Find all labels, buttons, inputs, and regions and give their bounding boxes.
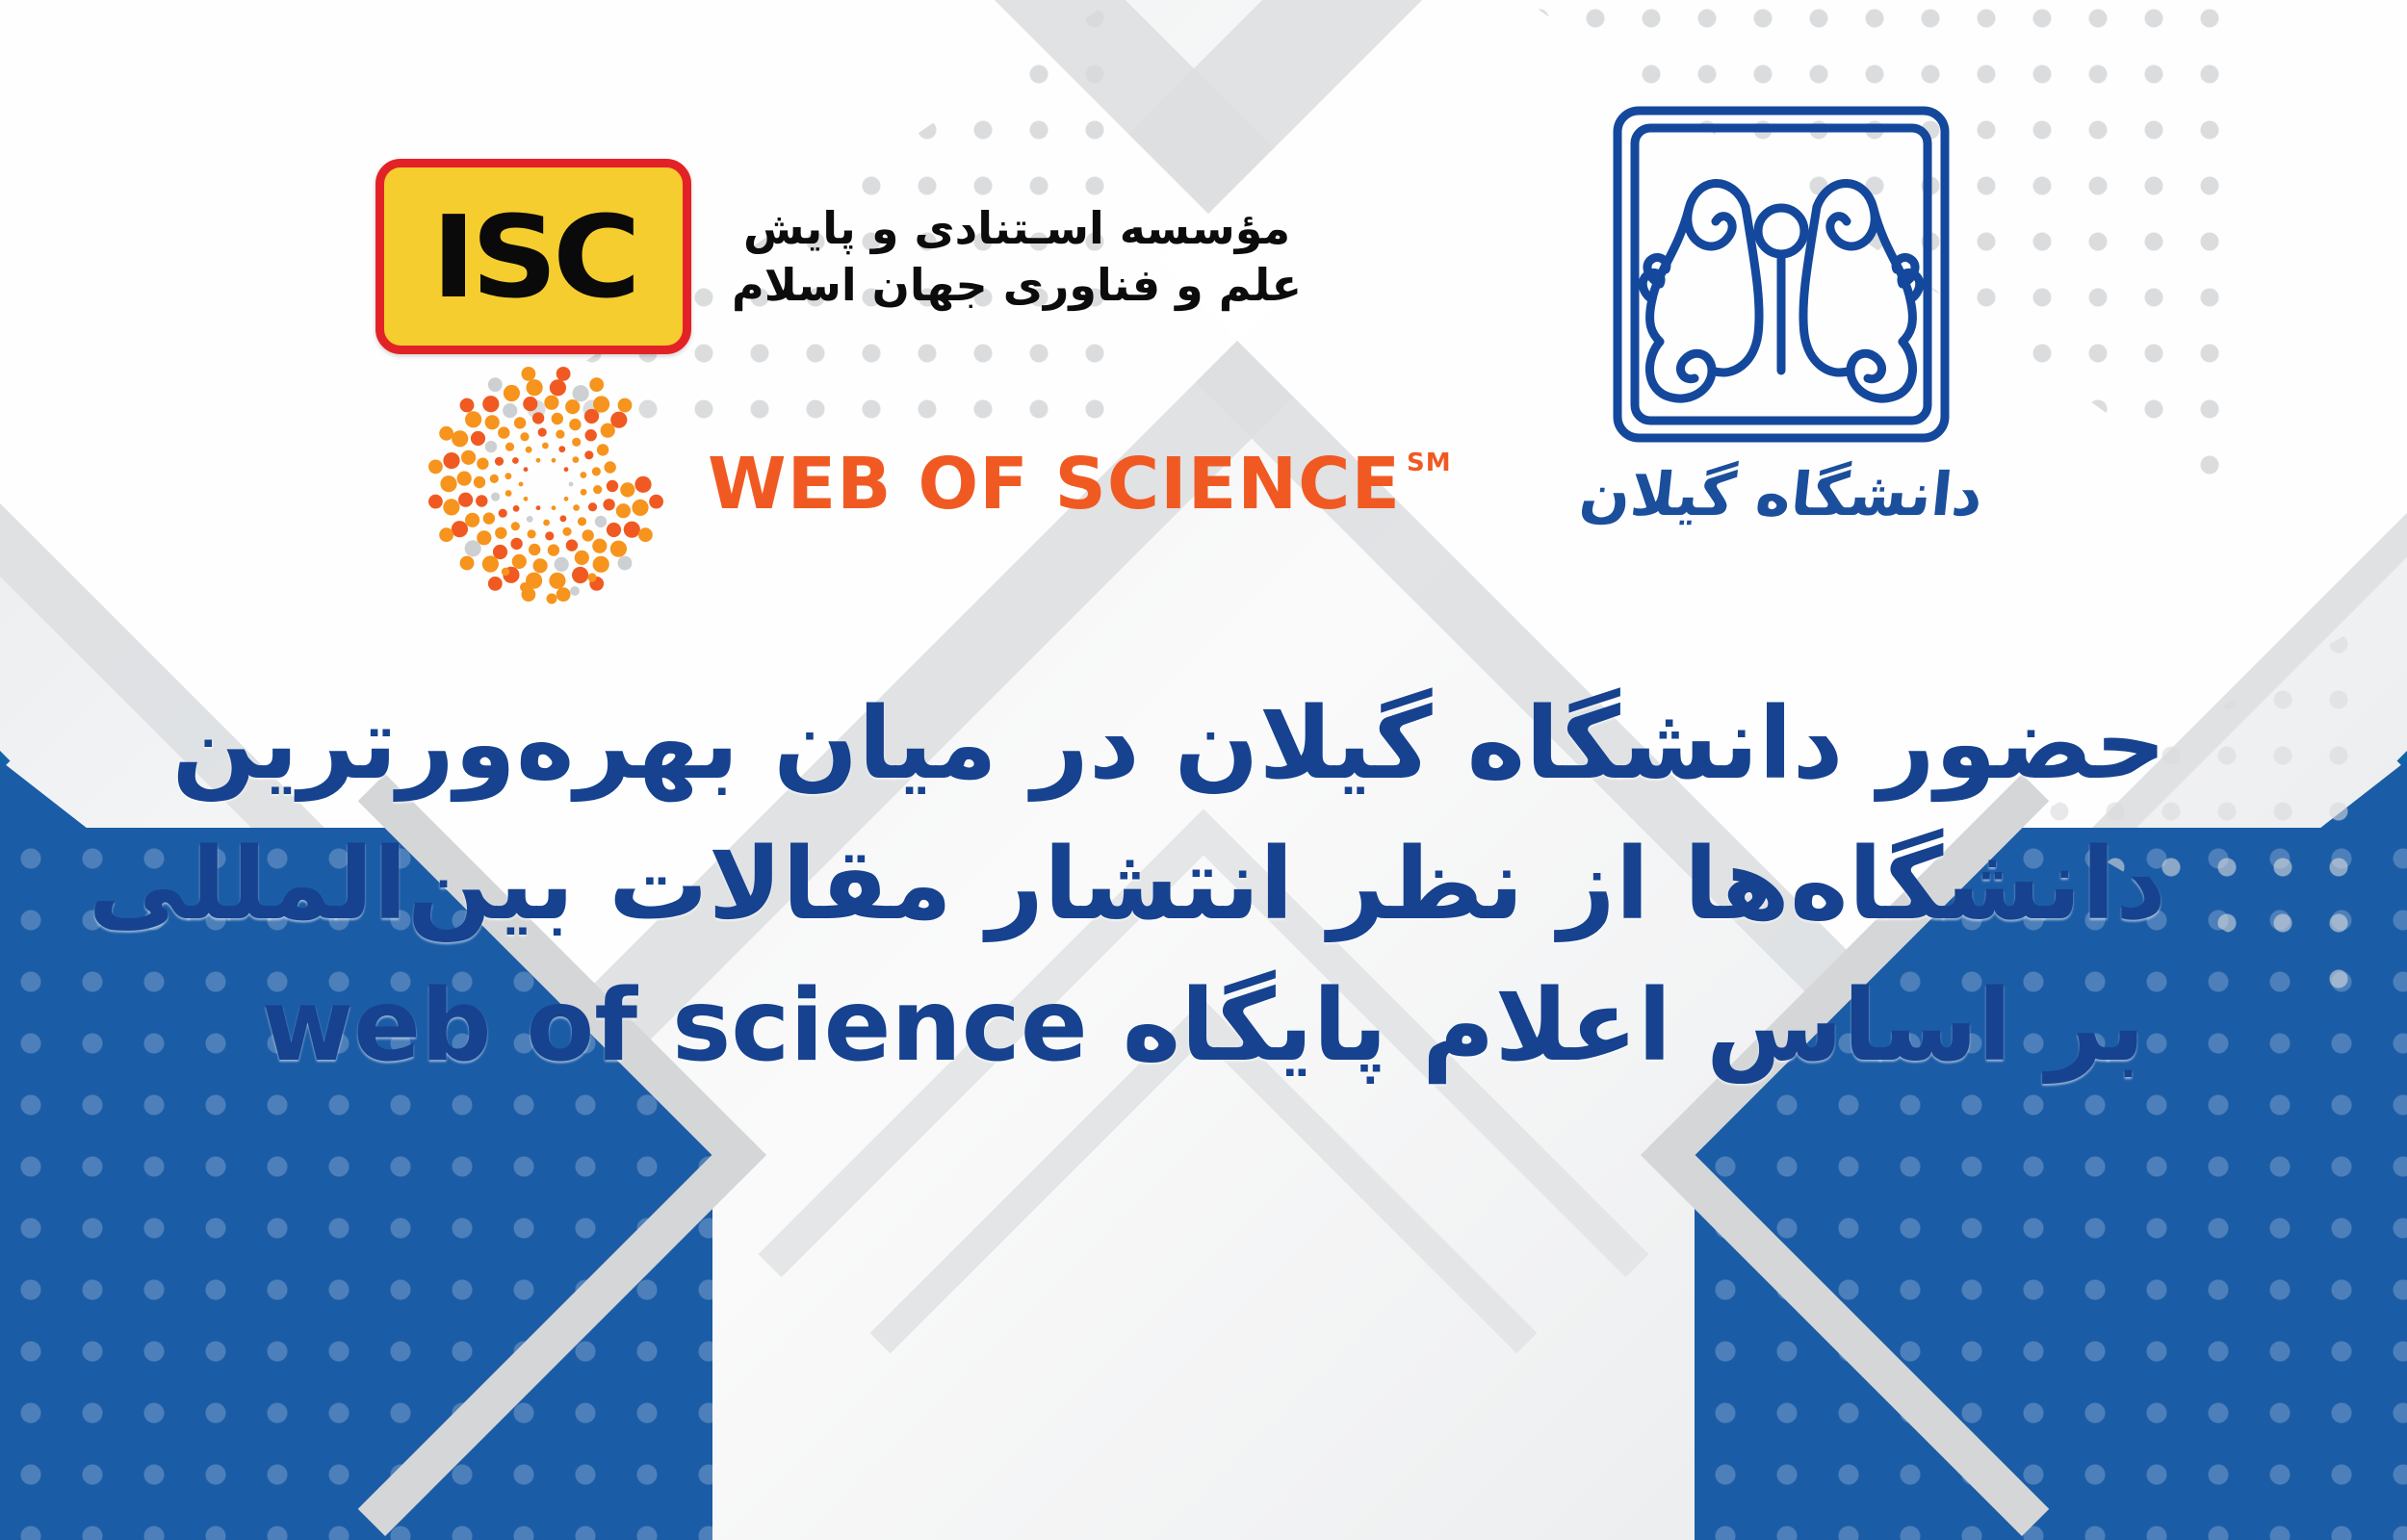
- isc-mark-text: ISC: [431, 200, 636, 314]
- web-of-science-dots-icon: [428, 364, 669, 604]
- web-of-science-trademark: SM: [1407, 449, 1452, 477]
- blue-chevron-mid-left: [0, 674, 11, 1278]
- guilan-emblem-icon: [1589, 82, 1974, 467]
- headline-line-1: حضور دانشگاه گیلان در میان بهره‌ورترین: [241, 674, 2166, 814]
- isc-name-line-1: مؤسسه اسـتنادی و پایش: [732, 200, 1302, 257]
- web-of-science-logo-lockup: WEB OF SCIENCE SM: [428, 364, 1452, 604]
- isc-logo-lockup: مؤسسه اسـتنادی و پایش علم و فناوری جهان …: [375, 159, 1302, 354]
- isc-logo-name: مؤسسه اسـتنادی و پایش علم و فناوری جهان …: [732, 200, 1302, 314]
- guilan-name-text: دانشگاه گیلان: [1576, 459, 1986, 529]
- isc-mark-icon: ISC: [375, 159, 691, 354]
- web-of-science-wordmark-text: WEB OF SCIENCE: [708, 443, 1401, 526]
- blue-chevron-mid-right: [2396, 674, 2407, 1278]
- headline-block: حضور دانشگاه گیلان در میان بهره‌ورترین د…: [241, 674, 2166, 1096]
- headline-line-2: دانشگاه‌ها از نظر انتشار مقالات بین‌المل…: [241, 814, 2166, 955]
- logo-row: مؤسسه اسـتنادی و پایش علم و فناوری جهان …: [0, 0, 2407, 616]
- isc-name-line-2: علم و فناوری جهان اسلام: [732, 257, 1302, 314]
- announcement-banner: مؤسسه اسـتنادی و پایش علم و فناوری جهان …: [0, 0, 2407, 1540]
- guilan-logo-lockup: دانشگاه گیلان: [1550, 82, 2012, 529]
- headline-line-3: بر اساس اعلام پایگاه web of science: [241, 956, 2166, 1096]
- web-of-science-wordmark: WEB OF SCIENCE SM: [708, 443, 1452, 526]
